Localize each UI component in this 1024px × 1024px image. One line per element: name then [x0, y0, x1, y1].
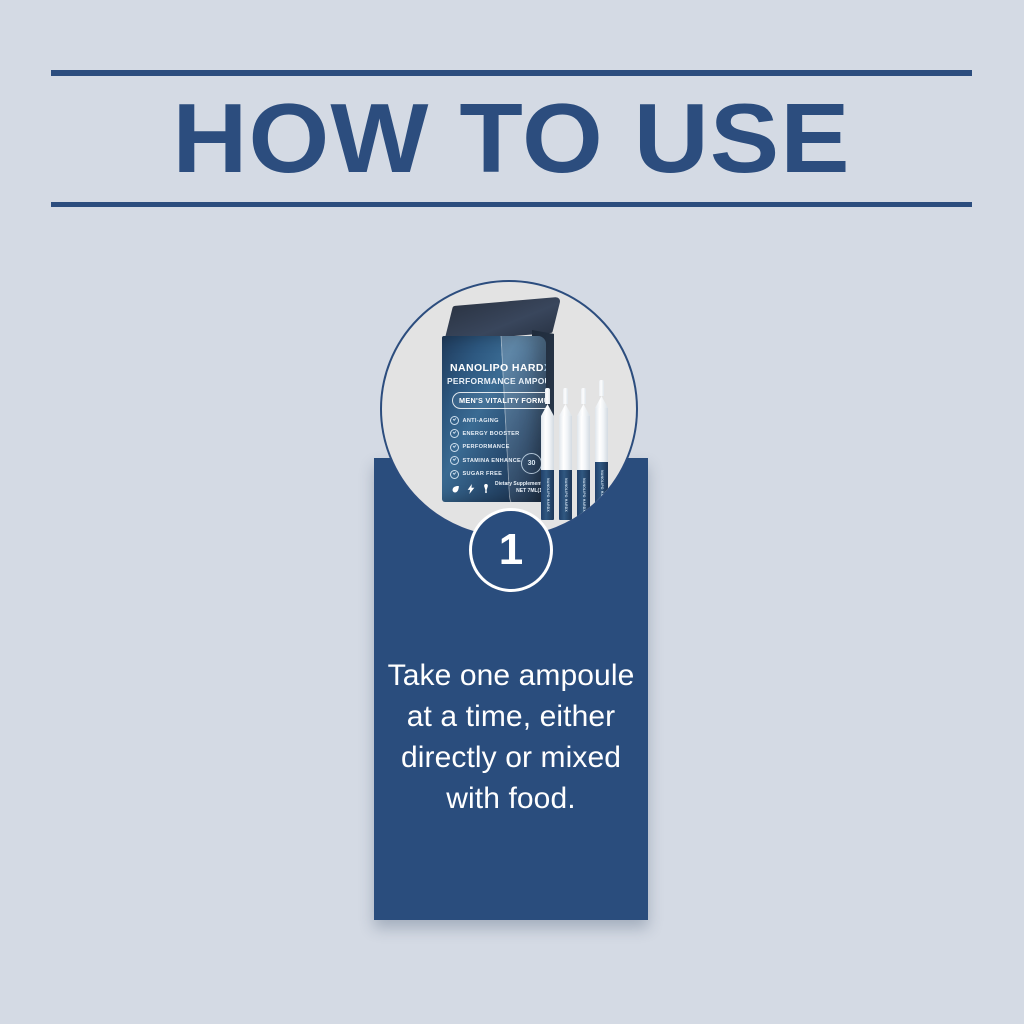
- capsule-icon: [482, 484, 490, 494]
- product-feature-label: ANTI-AGING: [463, 418, 499, 424]
- ampoule-neck: [545, 388, 550, 404]
- step-instruction-text: Take one ampoule at a time, either direc…: [382, 655, 640, 819]
- product-formula-banner: MEN'S VITALITY FORMULA: [452, 392, 546, 409]
- product-box: NANOLIPO HARDX PERFORMANCE AMPOULES MEN'…: [434, 306, 609, 521]
- product-feature-item: PERFORMANCE: [450, 443, 546, 452]
- ampoule: NANOLIPO HARDX: [559, 388, 572, 520]
- product-brand-text: NANOLIPO HARD: [450, 362, 544, 374]
- ampoule-shoulder: [577, 404, 590, 416]
- ampoule-shoulder: [595, 396, 608, 408]
- ampoule-neck: [563, 388, 568, 404]
- product-feature-item: ENERGY BOOSTER: [450, 429, 546, 438]
- ampoule-neck: [599, 380, 604, 396]
- ampoule-label: NANOLIPO HARDX: [559, 470, 572, 520]
- ampoule: NANOLIPO HARDX: [595, 380, 608, 512]
- header-rule-bottom: [51, 202, 972, 207]
- check-circle-icon: [450, 416, 459, 425]
- product-feature-label: SUGAR FREE: [463, 471, 503, 477]
- ampoule-label-text: NANOLIPO HARDX: [546, 478, 550, 512]
- ampoule-label: NANOLIPO HARDX: [595, 462, 608, 512]
- ampoule-body: [541, 416, 554, 470]
- product-supplement-label: Dietary Supplement: [495, 481, 542, 488]
- step-card: NANOLIPO HARDX PERFORMANCE AMPOULES MEN'…: [374, 280, 648, 920]
- check-circle-icon: [450, 429, 459, 438]
- product-feature-label: PERFORMANCE: [463, 444, 510, 450]
- ampoule: NANOLIPO HARDX: [577, 388, 590, 520]
- ampoule-label-text: NANOLIPO HARDX: [582, 478, 586, 512]
- leaf-icon: [451, 485, 460, 494]
- page-header: HOW TO USE: [51, 70, 972, 207]
- product-subtitle: PERFORMANCE AMPOULES: [447, 376, 546, 386]
- ampoule-neck: [581, 388, 586, 404]
- ampoule-shoulder: [541, 404, 554, 416]
- product-icon-row: [451, 484, 490, 494]
- lightning-bolt-icon: [467, 484, 475, 494]
- product-net-info: Dietary Supplement NET 7ML(1: [495, 481, 542, 495]
- product-brand-name: NANOLIPO HARDX: [450, 362, 546, 374]
- ampoule-body: [559, 416, 572, 470]
- product-brand-suffix: X: [544, 362, 546, 374]
- check-circle-icon: [450, 470, 459, 479]
- product-feature-item: ANTI-AGING: [450, 416, 546, 425]
- ampoule-label: NANOLIPO HARDX: [577, 470, 590, 520]
- page-title: HOW TO USE: [23, 76, 999, 202]
- ampoule-shoulder: [559, 404, 572, 416]
- product-box-front-face: NANOLIPO HARDX PERFORMANCE AMPOULES MEN'…: [442, 336, 546, 502]
- ampoule-body: [577, 416, 590, 470]
- ampoule-label-text: NANOLIPO HARDX: [564, 478, 568, 512]
- ampoule-label-text: NANOLIPO HARDX: [600, 470, 604, 504]
- ampoule-group: NANOLIPO HARDX NANOLIPO HARDX: [541, 380, 611, 520]
- product-feature-label: STAMINA ENHANCE: [463, 458, 522, 464]
- check-circle-icon: [450, 443, 459, 452]
- product-image-circle: NANOLIPO HARDX PERFORMANCE AMPOULES MEN'…: [380, 280, 638, 538]
- ampoule-label: NANOLIPO HARDX: [541, 470, 554, 520]
- ampoule-body: [595, 408, 608, 462]
- check-circle-icon: [450, 456, 459, 465]
- product-net-volume: NET 7ML(1: [495, 488, 542, 495]
- product-feature-label: ENERGY BOOSTER: [463, 431, 520, 437]
- product-count-seal: 30: [521, 453, 542, 474]
- ampoule: NANOLIPO HARDX: [541, 388, 554, 520]
- step-number-badge: 1: [469, 508, 553, 592]
